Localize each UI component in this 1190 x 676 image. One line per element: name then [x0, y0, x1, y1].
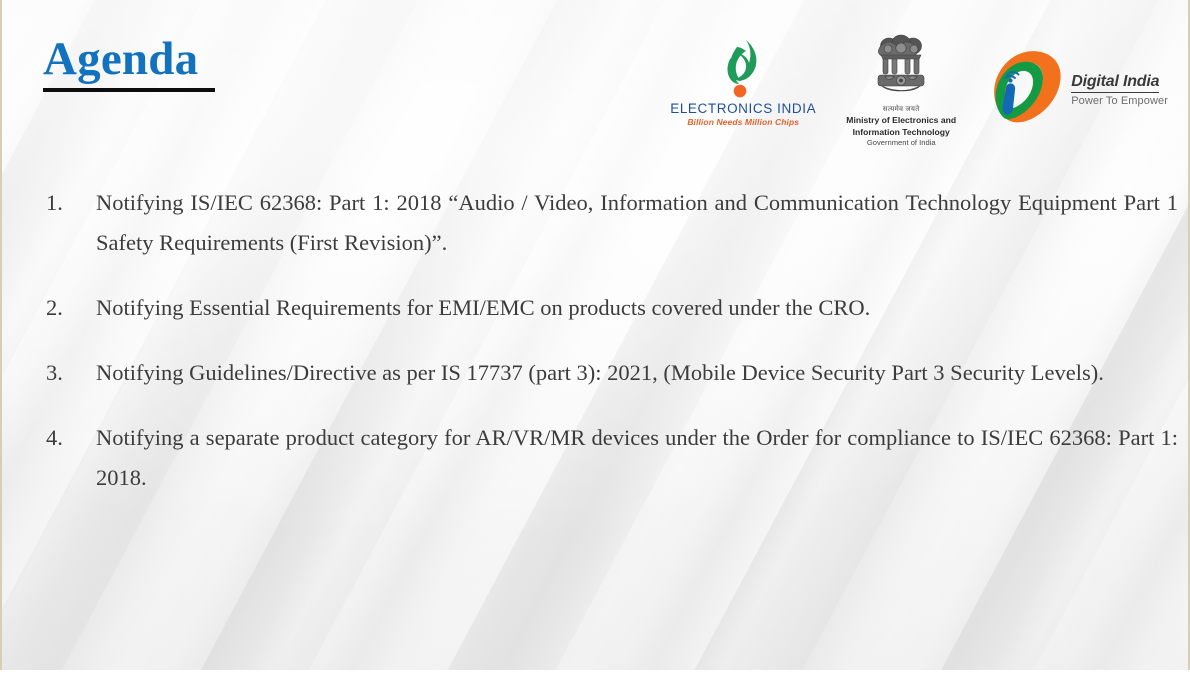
agenda-item: 4. Notifying a separate product category…: [46, 418, 1180, 498]
green-flame-peacock-icon: [670, 38, 816, 100]
agenda-item-text: Notifying Guidelines/Directive as per IS…: [96, 353, 1180, 393]
logo-meity-motto: सत्यमेव जयते: [842, 105, 960, 114]
logo-strip: ELECTRONICS INDIA Billion Needs Million …: [670, 32, 1168, 147]
logo-meity-line1: Ministry of Electronics and: [842, 116, 960, 126]
logo-meity-line2: Information Technology: [842, 128, 960, 138]
agenda-list: 1. Notifying IS/IEC 62368: Part 1: 2018 …: [46, 183, 1180, 523]
logo-meity-line3: Government of India: [842, 138, 960, 147]
agenda-item: 2. Notifying Essential Requirements for …: [46, 288, 1180, 328]
logo-digital-india-title: Digital India: [1071, 73, 1159, 93]
agenda-item-text: Notifying IS/IEC 62368: Part 1: 2018 “Au…: [96, 183, 1180, 263]
agenda-item: 1. Notifying IS/IEC 62368: Part 1: 2018 …: [46, 183, 1180, 263]
logo-electronics-india-tagline: Billion Needs Million Chips: [670, 117, 816, 127]
digital-india-swoosh-icon: [986, 48, 1066, 131]
page-title: Agenda: [43, 36, 215, 84]
logo-digital-india-tagline: Power To Empower: [1071, 95, 1168, 107]
agenda-item: 3. Notifying Guidelines/Directive as per…: [46, 353, 1180, 393]
ashoka-lion-capital-emblem-icon: [842, 32, 960, 104]
agenda-item-text: Notifying Essential Requirements for EMI…: [96, 288, 1180, 328]
agenda-item-number: 2.: [46, 288, 96, 328]
logo-meity: सत्यमेव जयते Ministry of Electronics and…: [842, 32, 960, 147]
agenda-item-number: 1.: [46, 183, 96, 223]
title-underline-rule: [43, 88, 215, 92]
agenda-item-number: 3.: [46, 353, 96, 393]
slide-bottom-margin: [0, 670, 1190, 676]
agenda-item-text: Notifying a separate product category fo…: [96, 418, 1180, 498]
logo-digital-india: Digital India Power To Empower: [986, 32, 1168, 131]
title-block: Agenda: [43, 36, 215, 92]
logo-electronics-india: ELECTRONICS INDIA Billion Needs Million …: [670, 32, 816, 127]
agenda-item-number: 4.: [46, 418, 96, 458]
presentation-slide: Agenda ELECTRONICS INDIA Billion Needs M…: [0, 0, 1190, 670]
logo-electronics-india-name: ELECTRONICS INDIA: [670, 101, 816, 116]
